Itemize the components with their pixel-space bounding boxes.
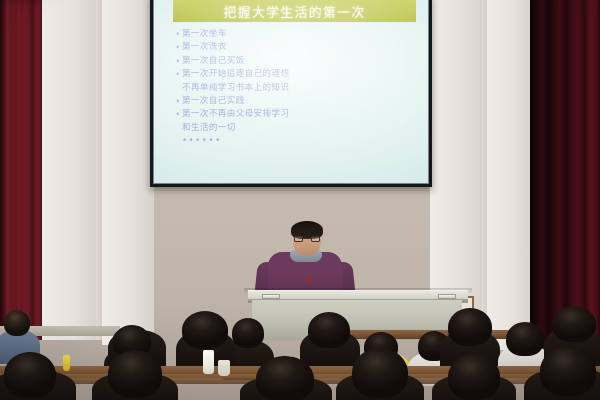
- slide-bullet-list: • 第一次坐车 • 第一次洗衣 • 第一次自己买饭 • 第一次开始追逐自己的理想: [174, 28, 420, 149]
- bullet-marker-icon: •: [174, 55, 182, 68]
- foreground-person-head: [540, 346, 596, 396]
- glasses-lens-right: [311, 236, 320, 242]
- wall-panel-center-left: [102, 0, 154, 345]
- list-item: • 第一次开始追逐自己的理想: [174, 68, 420, 81]
- bullet-marker-icon: •: [174, 28, 182, 41]
- list-item-ellipsis: ••••••: [174, 135, 420, 148]
- audience-person-head: [552, 306, 596, 342]
- audience-person-head: [448, 308, 492, 346]
- audience-person-head: [308, 312, 350, 348]
- list-item-continuation: 和生活的一切: [174, 122, 420, 135]
- projection-screen: 把握大学生活的第一次 • 第一次坐车 • 第一次洗衣 • 第一次自己买饭 •: [154, 0, 428, 183]
- bullet-marker-icon: •: [174, 68, 182, 81]
- bullet-marker-icon: •: [174, 95, 182, 108]
- stage-curtain-left: [0, 0, 42, 340]
- audience-person-head: [506, 322, 544, 356]
- slide-title: 把握大学生活的第一次: [173, 0, 416, 22]
- foreground-person-head: [4, 352, 56, 398]
- bullet-text: 第一次自己买饭: [182, 55, 245, 68]
- bullet-text: 第一次不再由父母安排学习: [182, 108, 289, 121]
- glasses-bridge: [303, 238, 311, 239]
- bullet-text: 第一次洗衣: [182, 41, 227, 54]
- list-item: • 第一次洗衣: [174, 41, 420, 54]
- foreground-person-head: [108, 350, 162, 398]
- bullet-text: 不再单纯学习书本上的知识: [182, 82, 289, 95]
- foreground-person-head: [256, 356, 314, 400]
- audience-person-head: [232, 318, 264, 348]
- list-item: • 第一次不再由父母安排学习: [174, 108, 420, 121]
- projection-screen-frame: 把握大学生活的第一次 • 第一次坐车 • 第一次洗衣 • 第一次自己买饭 •: [150, 0, 432, 187]
- bullet-marker-icon: •: [174, 108, 182, 121]
- wall-panel-left: [40, 0, 98, 340]
- bullet-text: ••••••: [182, 135, 222, 148]
- bullet-text: 和生活的一切: [182, 122, 236, 135]
- paper-cup: [218, 360, 230, 376]
- list-item: • 第一次坐车: [174, 28, 420, 41]
- list-item-continuation: 不再单纯学习书本上的知识: [174, 82, 420, 95]
- bullet-text: 第一次坐车: [182, 28, 227, 41]
- lecture-hall-photo: 把握大学生活的第一次 • 第一次坐车 • 第一次洗衣 • 第一次自己买饭 •: [0, 0, 600, 400]
- foreground-person-head: [448, 354, 500, 400]
- bullet-text: 第一次开始追逐自己的理想: [182, 68, 289, 81]
- list-item: • 第一次自己买饭: [174, 55, 420, 68]
- list-item: • 第一次自己实践: [174, 95, 420, 108]
- wall-panel-right: [487, 0, 533, 350]
- bullet-text: 第一次自己实践: [182, 95, 245, 108]
- stage-curtain-right: [530, 0, 600, 352]
- podium-plate-right: [438, 294, 456, 299]
- audience-person-head: [4, 310, 30, 336]
- slide-title-band: 把握大学生活的第一次: [173, 0, 416, 22]
- speaker-badge: [306, 276, 312, 283]
- glasses-lens-left: [294, 236, 303, 242]
- water-bottle: [63, 355, 70, 371]
- audience-person-head: [182, 311, 228, 349]
- water-bottle: [203, 350, 214, 374]
- foreground-person-head: [352, 348, 408, 398]
- bullet-marker-icon: •: [174, 41, 182, 54]
- glasses-icon: [294, 236, 320, 242]
- podium-plate-left: [262, 294, 280, 299]
